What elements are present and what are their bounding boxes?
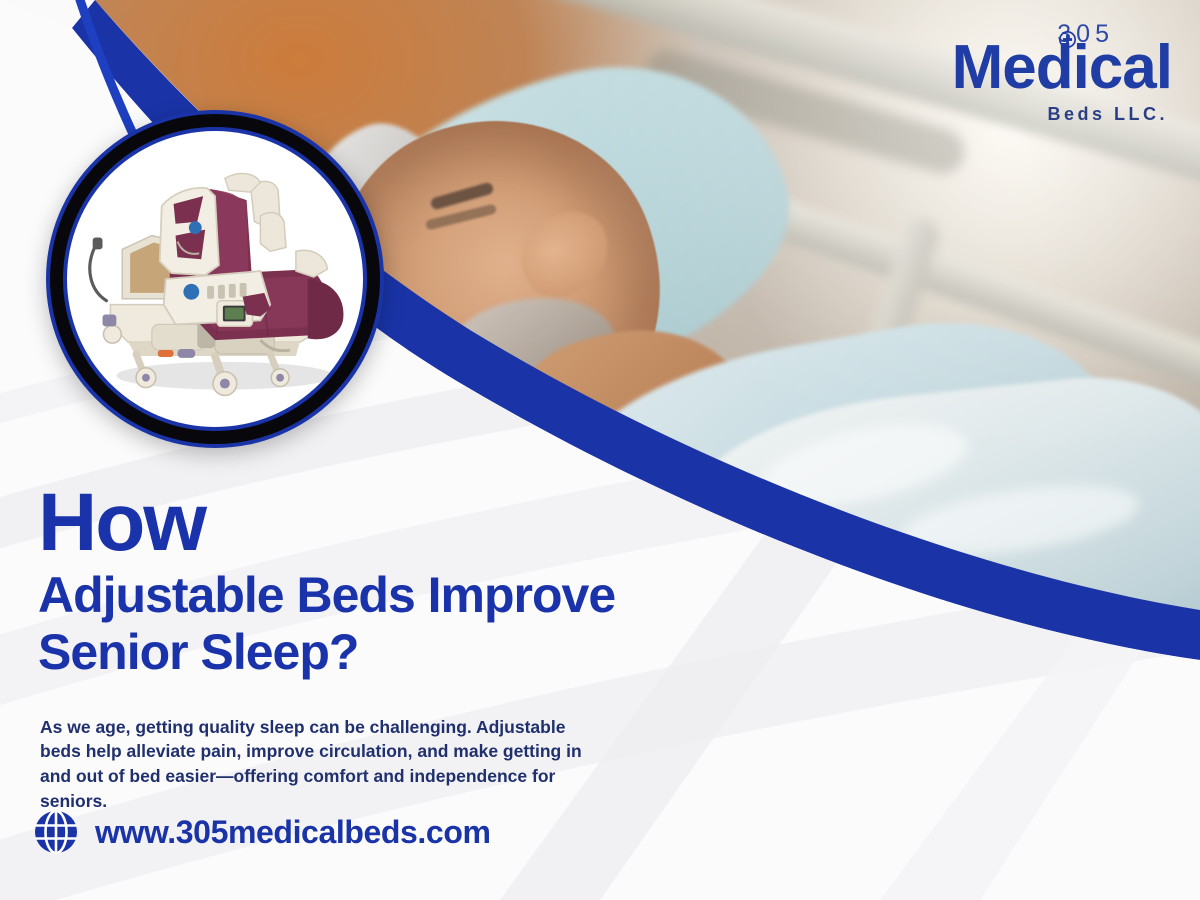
- adjustable-bed-illustration: [67, 131, 363, 427]
- page-title: How Adjustable Beds Improve Senior Sleep…: [38, 482, 615, 677]
- brand-logo[interactable]: 305 Medical Beds LLC.: [952, 22, 1172, 123]
- inset-black-ring: [50, 114, 380, 444]
- website-link[interactable]: www.305medicalbeds.com: [32, 808, 491, 856]
- product-inset-circle[interactable]: [46, 110, 384, 448]
- body-paragraph: As we age, getting quality sleep can be …: [40, 715, 608, 814]
- headline-line-1: How: [38, 482, 615, 564]
- headline-line-2: Adjustable Beds Improve: [38, 570, 615, 620]
- inset-blue-ring: [63, 127, 367, 431]
- website-url-text: www.305medicalbeds.com: [95, 814, 491, 851]
- logo-medical-text: Medical: [952, 37, 1172, 99]
- logo-beds-llc-text: Beds LLC.: [952, 105, 1168, 123]
- medical-cross-icon: [1059, 31, 1076, 48]
- inset-image-area: [67, 131, 363, 427]
- globe-icon: [32, 808, 80, 856]
- banner-canvas: 305 Medical Beds LLC. How Adjustable Bed…: [0, 0, 1200, 900]
- headline-line-3: Senior Sleep?: [38, 627, 615, 677]
